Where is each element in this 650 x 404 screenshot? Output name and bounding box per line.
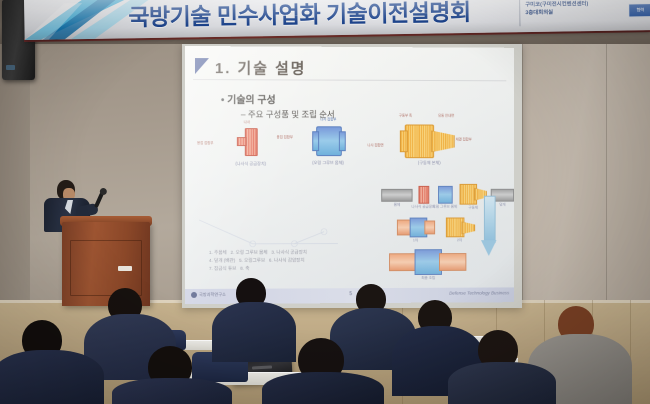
list-item: 8. 축: [240, 266, 249, 271]
callout-yellow-top: 구동부 축: [399, 113, 412, 118]
logo-mark-icon: [191, 292, 197, 298]
list-item: 3. 나사식 공급장치: [271, 250, 307, 255]
assembly-mid-caption-1: 2차: [452, 238, 468, 243]
banner-venue-line2: 3층대회의실: [525, 8, 620, 17]
caption-yellow: (구동체 본체): [405, 160, 454, 166]
podium-nameplate: [118, 266, 132, 271]
list-item: 7. 잠금식 튜브: [209, 266, 236, 271]
caption-blue: (오링 그루브 몸체): [302, 160, 353, 166]
list-item: 6. 나사식 감압장치: [269, 258, 305, 263]
list-item: 5. 오링그루브: [239, 258, 265, 263]
list-item: 2. 오링 그루브 몸체: [231, 250, 268, 255]
wall-seam: [522, 44, 523, 306]
slide-title-accent-icon: [195, 58, 209, 74]
right-wall-panel: [512, 44, 650, 306]
banner-badge: 협력: [628, 3, 650, 17]
banner-meta: 13:30 ~ 17:00 구미코(구미전시컨벤션센터) 3층대회의실: [525, 0, 620, 17]
left-wall-panel: [0, 44, 30, 306]
assembly-caption-0: 몸체: [385, 203, 409, 208]
slide-title-rule: [193, 79, 506, 81]
slide-footer-right-text: Defense Technology Business: [449, 290, 509, 295]
caption-red: (나사식 공급장치): [223, 161, 279, 167]
callout-yellow-left: 나사 접합면: [367, 142, 383, 147]
slide-footer: 국방과학연구소 5 Defense Technology Business: [185, 287, 514, 304]
seminar-room-photo: 국방기술 민수사업화 기술이전설명회 13:30 ~ 17:00 구미코(구미전…: [0, 0, 650, 404]
list-item: 1. 주몸체: [209, 250, 227, 255]
list-item: 4. 덮개 (배관): [209, 258, 235, 263]
banner-divider: [519, 0, 520, 26]
callout-yellow-top2: 유동 안내면: [438, 113, 454, 118]
projection-screen: 1. 기술 설명 기술의 구성 주요 구성품 및 조립 순서 나사 용접 접합부…: [185, 46, 514, 304]
slide-bullet-1: 기술의 구성: [221, 91, 276, 106]
callout-yellow-right: 체결 접합부: [456, 136, 472, 141]
component-number-list: 1. 주몸체 2. 오링 그루브 몸체 3. 나사식 공급장치 4. 덮개 (배…: [209, 248, 446, 273]
callout-red-top: 나사: [244, 119, 250, 124]
callout-red-left: 용접 접합부: [197, 140, 214, 145]
assembly-mid-caption-0: 1차: [409, 238, 423, 243]
slide-title: 1. 기술 설명: [215, 57, 306, 78]
slide-footer-logo: 국방과학연구소: [191, 292, 226, 298]
assembly-caption-2: 오링 그루브 몸체: [430, 205, 459, 210]
wall-seam: [606, 44, 607, 306]
slide-footer-logo-text: 국방과학연구소: [199, 292, 226, 298]
banner-title: 국방기술 민수사업화 기술이전설명회: [128, 0, 471, 32]
slide-page-number: 5: [349, 291, 352, 297]
assembly-final-caption: 최종 조립: [415, 276, 442, 281]
callout-blue-left: 용접 접합부: [277, 134, 293, 139]
callout-blue-top: 나사 접합부: [320, 116, 336, 121]
down-arrow-icon: [481, 196, 497, 257]
